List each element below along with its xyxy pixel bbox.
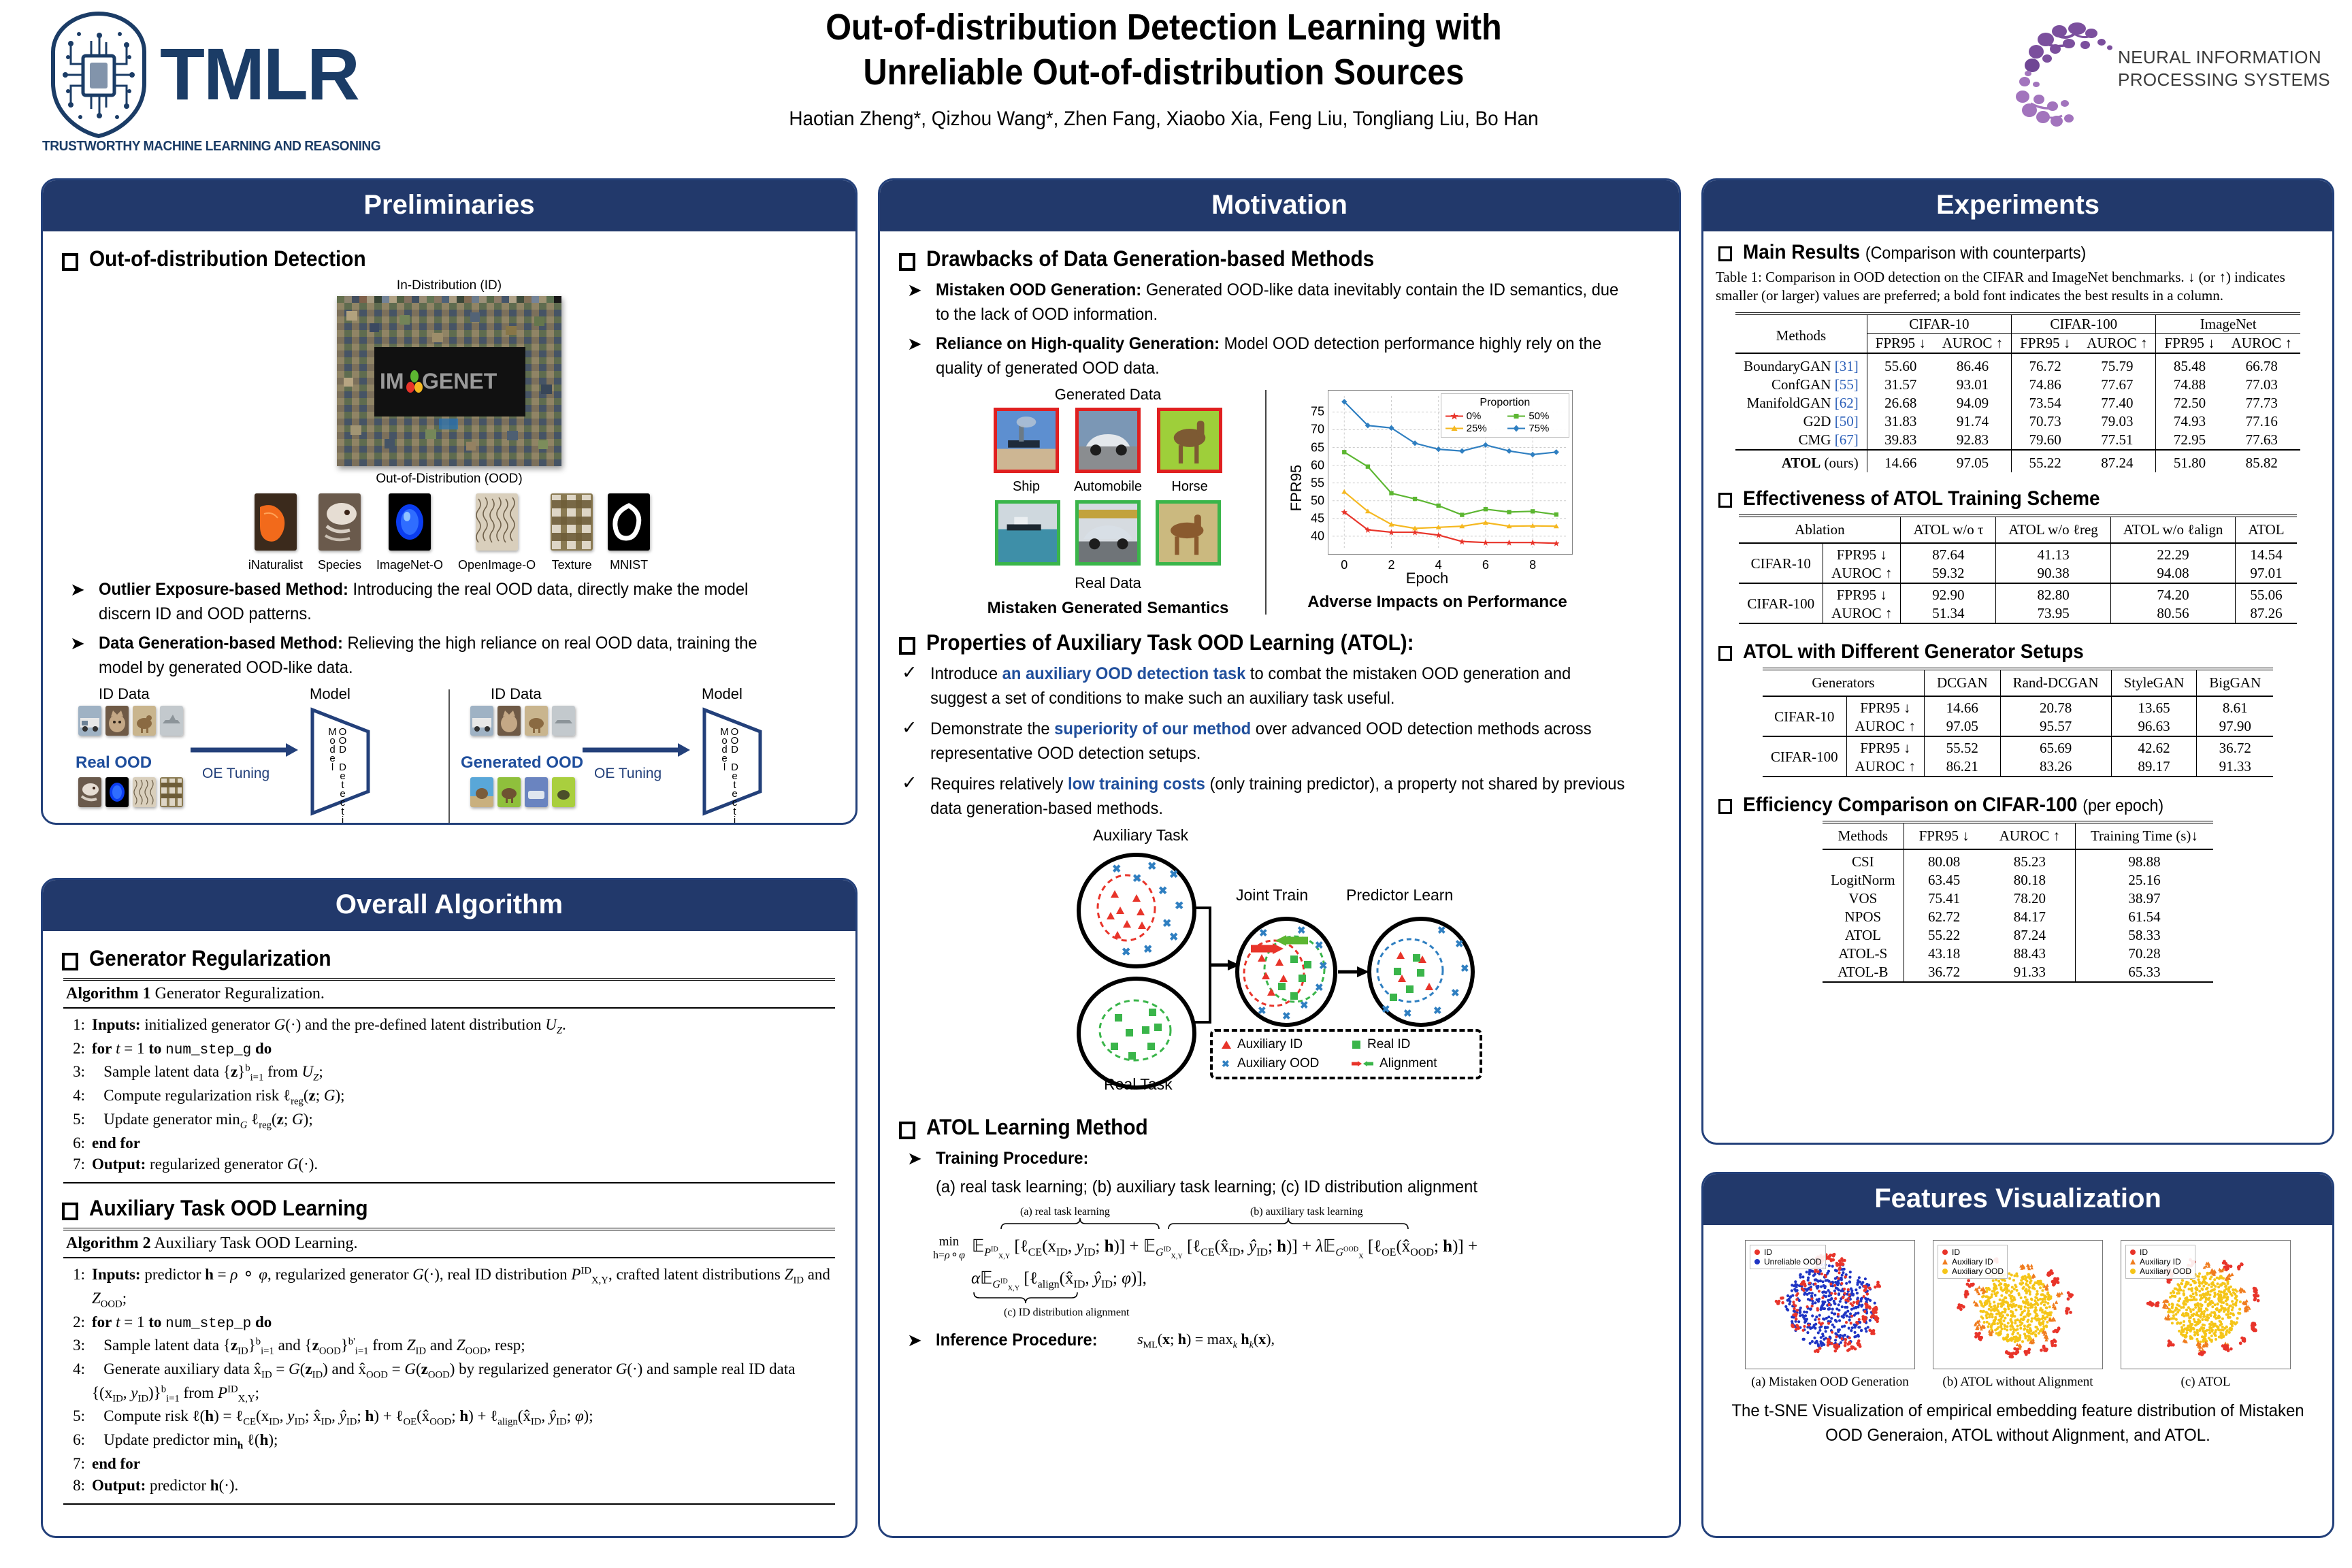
ood-dataset-item: iNaturalist xyxy=(248,493,303,572)
chart-plot-area: Proportion 0%50%25%75% 40455055606570750… xyxy=(1328,390,1573,555)
check-pre: Demonstrate the xyxy=(930,719,1054,738)
table-row: VOS75.4178.2038.97 xyxy=(1823,889,2213,908)
table-cell: 65.33 xyxy=(2075,963,2212,982)
training-procedure-item: ➤ Training Procedure: (a) real task lear… xyxy=(907,1147,1664,1199)
svg-text:✖: ✖ xyxy=(1132,873,1141,885)
generated-class-label: Horse xyxy=(1157,479,1222,495)
tsne-panel-a: ID Unreliable OOD (a) Mistaken OOD Gener… xyxy=(1745,1240,1915,1390)
step-text: Inputs: initialized generator G(·) and t… xyxy=(92,1014,832,1038)
openimage-o-thumbnail-icon xyxy=(476,493,518,551)
heading-text: ATOL Learning Method xyxy=(926,1115,1148,1140)
table-column-header: ATOL w/o ℓreg xyxy=(1996,516,2110,543)
square-bullet-icon xyxy=(1718,646,1732,661)
algorithm-1-label: Algorithm 1 xyxy=(66,985,151,1002)
auxiliary-task-diagram: Auxiliary Task Joint Train Predictor Lea… xyxy=(1062,828,1497,1100)
generated-data-label: Generated Data xyxy=(962,386,1254,404)
tmlr-logo: TMLR TRUSTWORTHY MACHINE LEARNING AND RE… xyxy=(27,5,415,162)
chart-ytick: 50 xyxy=(1311,493,1324,508)
algorithm-step: 1:Inputs: initialized generator G(·) and… xyxy=(66,1014,832,1038)
real-images-row xyxy=(962,500,1254,569)
legend-label: Auxiliary ID xyxy=(1237,1037,1303,1052)
ood-dataset-item: Species xyxy=(318,493,361,572)
out-of-distribution-label: Out-of-Distribution (OOD) xyxy=(58,472,840,487)
table-cell: 73.95 xyxy=(1996,604,2110,623)
table-cell: 85.48 xyxy=(2156,353,2223,376)
table-column-header: BigGAN xyxy=(2197,669,2273,696)
adverse-impacts-caption: Adverse Impacts on Performance xyxy=(1277,593,1597,612)
table-cell: 87.24 xyxy=(1984,926,2076,945)
arrow-bullet-icon: ➤ xyxy=(907,1328,925,1352)
legend-marker-icon xyxy=(1507,424,1525,433)
step-number: 5: xyxy=(66,1109,85,1132)
blue-cross-icon: ✖ xyxy=(1221,1059,1232,1068)
legend-label: Real ID xyxy=(1367,1037,1410,1052)
tsne-legend-a: ID Unreliable OOD xyxy=(1750,1245,1826,1269)
airplane-thumbnail-icon xyxy=(552,706,575,736)
truck-thumbnail-icon xyxy=(470,706,493,736)
table-cell: 65.69 xyxy=(2000,736,2111,757)
svg-text:✖: ✖ xyxy=(1147,861,1156,872)
chart-ytick: 55 xyxy=(1311,476,1324,490)
square-bullet-icon xyxy=(62,953,78,970)
training-procedure-block: Training Procedure: (a) real task learni… xyxy=(936,1147,1506,1199)
blue-dot-icon xyxy=(1754,1258,1761,1265)
table-cell: 88.43 xyxy=(1984,945,2076,963)
table-cell: 79.60 xyxy=(2012,431,2079,450)
check-pre: Requires relatively xyxy=(930,774,1068,794)
table-cell: 55.52 xyxy=(1924,736,2000,757)
panel-title-preliminaries: Preliminaries xyxy=(43,180,855,231)
inference-formula: sML(x; h) = maxk hk(x), xyxy=(1137,1330,1275,1351)
svg-text:✖: ✖ xyxy=(1382,1004,1390,1015)
formula-brace-b-label: (b) auxiliary task learning xyxy=(1250,1206,1363,1218)
heading-generator-regularization: Generator Regularization xyxy=(62,946,840,971)
species-thumbnail-icon xyxy=(78,777,101,807)
heading-main-text: Efficiency Comparison on CIFAR-100 xyxy=(1743,794,2077,816)
table-cell: 77.73 xyxy=(2223,394,2300,412)
heading-ood-detection: Out-of-distribution Detection xyxy=(62,246,840,272)
table-cell: 42.62 xyxy=(2111,736,2197,757)
green-square-icon xyxy=(1351,1040,1362,1049)
table-dataset-cell: CIFAR-10 xyxy=(1763,696,1846,736)
svg-text:✖: ✖ xyxy=(1300,1000,1309,1011)
generated-image-cell: Ship xyxy=(994,408,1059,495)
algorithm-1-steps: 1:Inputs: initialized generator G(·) and… xyxy=(63,1009,835,1182)
tsne-plot-c: ID Auxiliary ID Auxiliary OOD xyxy=(2121,1240,2291,1369)
step-number: 3: xyxy=(66,1335,85,1358)
table-cell: 22.29 xyxy=(2110,543,2236,564)
red-triangle-icon xyxy=(1221,1040,1232,1049)
neurips-line-1: NEURAL INFORMATION xyxy=(2118,46,2330,69)
bullet-label: Data Generation-based Method: xyxy=(99,634,343,653)
tmlr-wordmark: TMLR xyxy=(160,31,359,116)
table-row: ATOL-B36.7291.3365.33 xyxy=(1823,963,2213,982)
step-text: Compute risk ℓ(h) = ℓCE(xID, yID; x̂ID, … xyxy=(92,1405,832,1429)
algorithm-1-box: Algorithm 1 Generator Reguralization. 1:… xyxy=(63,978,835,1183)
bullet-text: Mistaken OOD Generation: Generated OOD-l… xyxy=(936,278,1628,327)
real-data-label: Real Data xyxy=(962,574,1254,592)
algorithm-step: 7:end for xyxy=(66,1453,832,1475)
heading-text: Properties of Auxiliary Task OOD Learnin… xyxy=(926,630,1414,655)
panel-title-experiments: Experiments xyxy=(1703,180,2332,231)
texture-thumbnail-icon xyxy=(160,777,183,807)
table-cell: 77.51 xyxy=(2078,431,2156,450)
table-cell: 41.13 xyxy=(1996,543,2110,564)
table-row: ConfGAN [55]31.5793.0174.8677.6774.8877.… xyxy=(1735,376,2300,394)
step-text: end for xyxy=(92,1132,832,1154)
algorithm-2-name: Auxiliary Task OOD Learning. xyxy=(154,1235,357,1252)
table-cell: 55.06 xyxy=(2236,583,2297,604)
legend-row: ID xyxy=(1754,1247,1822,1257)
heading-main-text: Main Results xyxy=(1743,241,1860,263)
table-column-header: Methods xyxy=(1823,822,1904,849)
step-number: 3: xyxy=(66,1061,85,1085)
algorithm-1-title: Algorithm 1 Generator Reguralization. xyxy=(63,981,835,1007)
orange-triangle-icon xyxy=(1942,1258,1948,1265)
table-metric-cell: FPR95 ↓ xyxy=(1846,736,1924,757)
checkmark-icon: ✓ xyxy=(902,717,919,766)
step-number: 1: xyxy=(66,1264,85,1311)
table-method-cell: ManifoldGAN [62] xyxy=(1735,394,1867,412)
cat-thumbnail-icon xyxy=(105,706,129,736)
step-number: 8: xyxy=(66,1475,85,1497)
heading-main-results: Main Results (Comparison with counterpar… xyxy=(1718,241,2320,264)
legend-label: Alignment xyxy=(1379,1056,1437,1071)
ood-detection-model-text: OOD Detection Model xyxy=(719,726,740,825)
check-highlight: an auxiliary OOD detection task xyxy=(1002,664,1246,683)
neurips-swirl-icon xyxy=(2014,14,2117,129)
legend-label: ID xyxy=(1952,1247,1960,1257)
table-metric-cell: FPR95 ↓ xyxy=(1846,696,1924,717)
table-cell: 80.08 xyxy=(1904,849,1984,871)
inference-procedure-label: Inference Procedure: xyxy=(936,1328,1098,1353)
table-subheader: AUROC ↑ xyxy=(2078,333,2156,353)
legend-label: Auxiliary OOD xyxy=(2140,1267,2191,1276)
outlier-exposure-diagram: ID Data Real OOD xyxy=(58,685,448,825)
real-image-cell xyxy=(1156,500,1221,569)
bullet-outlier-exposure: ➤ Outlier Exposure-based Method: Introdu… xyxy=(70,578,840,626)
table-column-header: Rand-DCGAN xyxy=(2000,669,2111,696)
step-text: end for xyxy=(92,1453,832,1475)
svg-text:✖: ✖ xyxy=(1169,869,1178,881)
table-cell: 92.83 xyxy=(1934,431,2012,450)
chart-xtick: 2 xyxy=(1388,558,1394,572)
step-number: 4: xyxy=(66,1358,85,1406)
heading-text: Generator Regularization xyxy=(89,946,331,971)
table-cell: 72.95 xyxy=(2156,431,2223,450)
table-ablation: AblationATOL w/o τATOL w/o ℓregATOL w/o … xyxy=(1739,514,2296,625)
panel-overall-algorithm: Overall Algorithm Generator Regularizati… xyxy=(41,878,857,1538)
bullet-data-generation: ➤ Data Generation-based Method: Relievin… xyxy=(70,632,840,680)
table-cell: 26.68 xyxy=(1867,394,1934,412)
svg-text:✖: ✖ xyxy=(1169,932,1178,943)
table-cell: 77.63 xyxy=(2223,431,2300,450)
training-procedure-label: Training Procedure: xyxy=(936,1147,1477,1171)
table-cell: 20.78 xyxy=(2000,696,2111,717)
bullet-label: Reliance on High-quality Generation: xyxy=(936,334,1220,353)
step-number: 6: xyxy=(66,1132,85,1154)
check-text: Demonstrate the superiority of our metho… xyxy=(930,717,1627,766)
tsne-caption-c: (c) ATOL xyxy=(2121,1375,2291,1390)
chart-xtick: 6 xyxy=(1482,558,1489,572)
table-cell: 8.61 xyxy=(2197,696,2273,717)
legend-row: Auxiliary ID xyxy=(2129,1257,2191,1267)
red-dot-icon xyxy=(2129,1249,2136,1256)
ood-dataset-item: MNIST xyxy=(608,493,650,572)
formula-main-line1: 𝔼PIDX,Y [ℓCE(xID, yID; h)] + 𝔼GIDX,Y [ℓC… xyxy=(972,1236,1477,1260)
table-cell: 61.54 xyxy=(2075,908,2212,926)
algorithm-step: 5: Compute risk ℓ(h) = ℓCE(xID, yID; x̂I… xyxy=(66,1405,832,1429)
bullet-label: Mistaken OOD Generation: xyxy=(936,280,1141,299)
table-cell: 58.33 xyxy=(2075,926,2212,945)
step-text: for t = 1 to num_step_g do xyxy=(92,1038,832,1061)
bullet-text: Reliance on High-quality Generation: Mod… xyxy=(936,332,1628,380)
table-cell: 91.33 xyxy=(2197,757,2273,777)
svg-text:✖: ✖ xyxy=(1451,987,1460,999)
table-cell: 76.72 xyxy=(2012,353,2079,376)
table-cell: 73.54 xyxy=(2012,394,2079,412)
tsne-plot-b: ID Auxiliary ID Auxiliary OOD xyxy=(1933,1240,2103,1369)
tmlr-tagline: TRUSTWORTHY MACHINE LEARNING AND REASONI… xyxy=(42,139,380,154)
orange-triangle-icon xyxy=(2129,1258,2136,1265)
legend-marker-icon xyxy=(1445,412,1463,421)
generated-dog-thumbnail-icon xyxy=(470,777,493,807)
table-method-cell: ATOL-B xyxy=(1823,963,1904,982)
table-row: ATOL55.2287.2458.33 xyxy=(1823,926,2213,945)
algorithm-step: 2:for t = 1 to num_step_p do xyxy=(66,1311,832,1335)
table-cell: 90.38 xyxy=(1996,564,2110,583)
model-label: Model xyxy=(702,685,742,703)
legend-label: 0% xyxy=(1467,410,1482,422)
tsne-panels-row: ID Unreliable OOD (a) Mistaken OOD Gener… xyxy=(1714,1240,2321,1390)
algorithm-step: 7:Output: regularized generator G(·). xyxy=(66,1154,832,1175)
formula-braces-top xyxy=(998,1218,1597,1230)
table-cell: 74.93 xyxy=(2156,412,2223,431)
fpr95-chart-figure: FPR95 Epoch Proportion 0%50%25%75% 40455… xyxy=(1277,386,1597,612)
legend-label: Auxiliary OOD xyxy=(1952,1267,2004,1276)
table-cell: 89.17 xyxy=(2111,757,2197,777)
table-generator-setups: GeneratorsDCGANRand-DCGANStyleGANBigGANC… xyxy=(1763,668,2273,779)
legend-label: 25% xyxy=(1467,423,1487,434)
step-text: Sample latent data {z}bi=1 from UZ; xyxy=(92,1061,832,1085)
id-data-label: ID Data xyxy=(491,685,542,703)
svg-text:✖: ✖ xyxy=(1455,938,1464,950)
table-main-results: MethodsCIFAR-10CIFAR-100ImageNetFPR95 ↓A… xyxy=(1735,312,2300,472)
table-group-header: ImageNet xyxy=(2156,314,2300,334)
tsne-legend-c: ID Auxiliary ID Auxiliary OOD xyxy=(2125,1245,2195,1279)
neurips-line-2: PROCESSING SYSTEMS xyxy=(2118,69,2330,91)
table-cell: 36.72 xyxy=(1904,963,1984,982)
chart-legend-items: 0%50%25%75% xyxy=(1445,410,1565,434)
formula-brace-bottom xyxy=(971,1292,1196,1303)
imagenet-logo-icon: IM GENET xyxy=(380,364,520,399)
table-cell: 55.22 xyxy=(1904,926,1984,945)
heading-text: Efficiency Comparison on CIFAR-100 (per … xyxy=(1743,794,2163,817)
oe-tuning-label: OE Tuning xyxy=(594,766,661,782)
chart-ytick: 65 xyxy=(1311,440,1324,455)
heading-atol-properties: Properties of Auxiliary Task OOD Learnin… xyxy=(899,630,1664,655)
atol-objective-formula: (a) real task learning (b) auxiliary tas… xyxy=(933,1206,1664,1319)
svg-text:✖: ✖ xyxy=(1222,1059,1230,1068)
legend-label: 50% xyxy=(1529,410,1549,422)
deer-thumbnail-icon xyxy=(133,706,156,736)
heading-efficiency: Efficiency Comparison on CIFAR-100 (per … xyxy=(1718,794,2320,817)
algorithm-step: 1:Inputs: predictor h = ρ ⚬ φ, regulariz… xyxy=(66,1264,832,1311)
cat-thumbnail-icon xyxy=(497,706,521,736)
table-cell: 94.08 xyxy=(2110,564,2236,583)
table-cell: 55.22 xyxy=(2012,450,2079,472)
formula-min-operator: minh=ρ⚬φ xyxy=(933,1235,965,1261)
table-column-header: DCGAN xyxy=(1924,669,2000,696)
legend-label: 75% xyxy=(1529,423,1549,434)
svg-text:✖: ✖ xyxy=(1162,918,1171,930)
svg-text:✖: ✖ xyxy=(1175,900,1183,912)
inference-procedure-item: ➤ Inference Procedure: sML(x; h) = maxk … xyxy=(907,1328,1664,1353)
real-ship-image xyxy=(995,500,1060,566)
algorithm-2-box: Algorithm 2 Auxiliary Task OOD Learning.… xyxy=(63,1228,835,1505)
generated-car-thumbnail-icon xyxy=(525,777,548,807)
table-cell: 25.16 xyxy=(2075,871,2212,889)
table-cell: 75.79 xyxy=(2078,353,2156,376)
step-text: for t = 1 to num_step_p do xyxy=(92,1311,832,1335)
table-method-cell: G2D [50] xyxy=(1735,412,1867,431)
table-column-header: AUROC ↑ xyxy=(1984,822,2076,849)
table-cell: 66.78 xyxy=(2223,353,2300,376)
real-ood-label: Real OOD xyxy=(76,753,152,772)
generated-ship-image xyxy=(994,408,1059,473)
table-subheader: FPR95 ↓ xyxy=(2012,333,2079,353)
neurips-wordmark: NEURAL INFORMATION PROCESSING SYSTEMS xyxy=(2118,46,2330,92)
arrow-bullet-icon: ➤ xyxy=(907,332,925,380)
square-bullet-icon xyxy=(899,637,915,655)
table-column-header: ATOL xyxy=(2236,516,2297,543)
airplane-thumbnail-icon xyxy=(160,706,183,736)
square-bullet-icon xyxy=(1718,246,1732,261)
table-method-cell: ATOL-S xyxy=(1823,945,1904,963)
ood-dataset-label: OpenImage-O xyxy=(458,558,536,572)
table-cell: 74.20 xyxy=(2110,583,2236,604)
table-cell: 87.64 xyxy=(1901,543,1996,564)
heading-text: Auxiliary Task OOD Learning xyxy=(89,1196,368,1221)
check-highlight: superiority of our method xyxy=(1054,719,1251,738)
ood-dataset-label: Texture xyxy=(551,558,593,572)
table-cell: 59.32 xyxy=(1901,564,1996,583)
svg-text:✖: ✖ xyxy=(1315,982,1324,994)
algorithm-step: 5: Update generator minG ℓreg(z; G); xyxy=(66,1109,832,1132)
generated-horse-image xyxy=(1157,408,1222,473)
check-item-low-cost: ✓ Requires relatively low training costs… xyxy=(902,772,1664,821)
step-number: 5: xyxy=(66,1405,85,1429)
chart-ytick: 75 xyxy=(1311,405,1324,419)
legend-real-id: Real ID xyxy=(1351,1037,1471,1052)
table-column-header: ATOL w/o ℓalign xyxy=(2110,516,2236,543)
poster-header: TMLR TRUSTWORTHY MACHINE LEARNING AND RE… xyxy=(0,0,2352,170)
table-cell: 14.66 xyxy=(1924,696,2000,717)
panel-features-visualization: Features Visualization ID Unreliable OOD… xyxy=(1701,1172,2334,1538)
table-method-cell: NPOS xyxy=(1823,908,1904,926)
figure-divider xyxy=(1265,390,1267,615)
legend-label: Unreliable OOD xyxy=(1764,1257,1822,1267)
table-cell: 38.97 xyxy=(2075,889,2212,908)
table-header-cell: Ablation xyxy=(1739,516,1901,543)
generated-deer-thumbnail-icon xyxy=(552,777,575,807)
table-efficiency: MethodsFPR95 ↓AUROC ↑Training Time (s)↓C… xyxy=(1823,821,2213,984)
table-column-header: FPR95 ↓ xyxy=(1904,822,1984,849)
poster-title-line2: Unreliable Out-of-distribution Sources xyxy=(704,50,1623,95)
generated-vs-real-figure: Generated Data Ship Automobile Horse xyxy=(962,386,1254,618)
table-method-cell: CMG [67] xyxy=(1735,431,1867,450)
legend-row: Auxiliary OOD xyxy=(1942,1267,2004,1276)
table-cell: 80.18 xyxy=(1984,871,2076,889)
tsne-panel-b: ID Auxiliary ID Auxiliary OOD (b) ATOL w… xyxy=(1933,1240,2103,1390)
table-row: NPOS62.7284.1761.54 xyxy=(1823,908,2213,926)
method-comparison-diagram: ID Data Real OOD xyxy=(58,685,840,825)
table-row: AUROC ↑51.3473.9580.5687.26 xyxy=(1739,604,2296,623)
generated-images-row: Ship Automobile Horse xyxy=(962,408,1254,495)
heading-text: Effectiveness of ATOL Training Scheme xyxy=(1743,487,2100,510)
table-cell: 97.05 xyxy=(1934,450,2012,472)
chart-ylabel: FPR95 xyxy=(1288,465,1305,511)
legend-marker-icon xyxy=(1445,424,1463,433)
arrow-bullet-icon: ➤ xyxy=(907,1147,925,1199)
square-bullet-icon xyxy=(62,253,78,271)
table1-caption: Table 1: Comparison in OOD detection on … xyxy=(1716,268,2320,306)
chart-xtick: 0 xyxy=(1341,558,1347,572)
table-metric-cell: FPR95 ↓ xyxy=(1823,543,1901,564)
legend-alignment: Alignment xyxy=(1351,1056,1471,1071)
table-header-cell: Generators xyxy=(1763,669,1925,696)
table-cell: 70.28 xyxy=(2075,945,2212,963)
svg-text:✖: ✖ xyxy=(1319,960,1328,972)
checkmark-icon: ✓ xyxy=(902,772,919,821)
ood-dataset-item: ImageNet-O xyxy=(376,493,443,572)
table-cell: 74.88 xyxy=(2156,376,2223,394)
legend-label: Auxiliary OOD xyxy=(1237,1056,1319,1071)
chart-legend-item: 50% xyxy=(1507,410,1565,422)
check-pre: Introduce xyxy=(930,664,1002,683)
legend-label: ID xyxy=(1764,1247,1772,1257)
tsne-caption-a: (a) Mistaken OOD Generation xyxy=(1745,1375,1915,1390)
table-cell: 72.50 xyxy=(2156,394,2223,412)
arrow-right-icon xyxy=(191,740,299,760)
heading-drawbacks: Drawbacks of Data Generation-based Metho… xyxy=(899,246,1664,272)
chart-legend-item: 25% xyxy=(1445,423,1503,434)
table-cell: 36.72 xyxy=(2197,736,2273,757)
table-row: AUROC ↑59.3290.3894.0897.01 xyxy=(1739,564,2296,583)
step-number: 2: xyxy=(66,1038,85,1061)
table-dataset-cell: CIFAR-100 xyxy=(1739,583,1823,623)
model-label: Model xyxy=(310,685,350,703)
step-number: 4: xyxy=(66,1085,85,1109)
table-metric-cell: AUROC ↑ xyxy=(1846,757,1924,777)
svg-text:✖: ✖ xyxy=(1158,885,1167,897)
heading-text: Out-of-distribution Detection xyxy=(89,246,366,272)
table-group-header: CIFAR-100 xyxy=(2012,314,2156,334)
table-method-cell: ATOL xyxy=(1823,926,1904,945)
legend-row: ID xyxy=(1942,1247,2004,1257)
generated-image-cell: Automobile xyxy=(1074,408,1142,495)
step-text: Output: regularized generator G(·). xyxy=(92,1154,832,1175)
table-cell: 51.34 xyxy=(1901,604,1996,623)
tmlr-shield-icon xyxy=(41,10,157,139)
step-text: Compute regularization risk ℓreg(z; G); xyxy=(92,1085,832,1109)
chart-ytick: 40 xyxy=(1311,529,1324,543)
id-data-thumbs xyxy=(470,706,575,736)
table-cell: 83.26 xyxy=(2000,757,2111,777)
square-bullet-icon xyxy=(1718,799,1732,814)
id-data-label: ID Data xyxy=(99,685,150,703)
imagenet-o-thumbnail-icon xyxy=(105,777,129,807)
